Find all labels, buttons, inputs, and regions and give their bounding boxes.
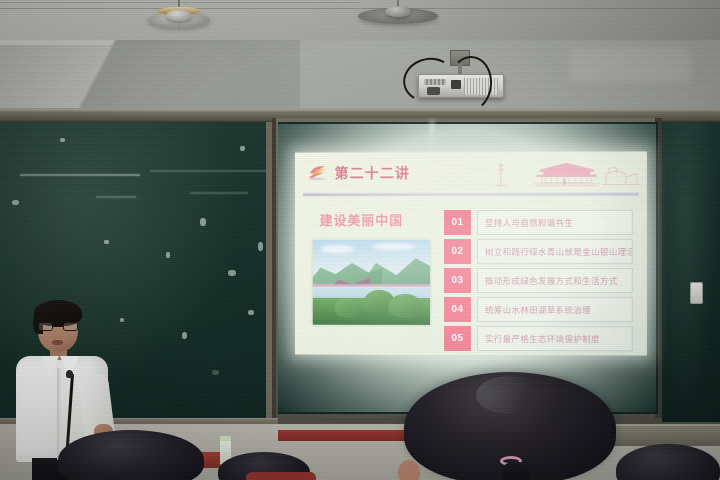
chalk-mark [150,170,268,172]
chalk-mark [182,332,187,339]
student-ponytail [502,462,530,480]
fan-motor [385,6,411,17]
student-shoulder [246,472,316,480]
party-emblem-icon [308,163,328,180]
slide-point-list: 01 坚持人与自然和谐共生 02 树立和践行绿水青山就是金山银山理念 03 推动… [444,210,633,356]
presenter-shirt-placket [57,368,61,460]
slide-section-heading: 建设美丽中国 [320,210,403,229]
chalk-mark [20,174,140,176]
chalk-mark [190,192,248,194]
list-item: 05 实行最严格生态环境保护制度 [444,326,633,352]
photo-shoreline [313,284,430,287]
slide-title: 第二十二讲 [335,163,411,183]
chalk-mark [12,200,19,205]
light-switch[interactable] [690,282,703,304]
landscape-photo [313,240,430,325]
item-number-badge: 02 [444,239,471,264]
ceiling-projector [404,50,514,108]
fan-motor [166,10,192,21]
chalk-mark [96,196,136,198]
chalk-mark [258,242,263,251]
list-item: 01 坚持人与自然和谐共生 [444,210,633,235]
item-number-badge: 01 [444,210,471,235]
glasses-bridge [53,326,63,327]
chalk-mark [212,370,219,375]
presentation-slide: 第二十二讲 [295,151,647,355]
hair-part-highlight [476,376,542,414]
item-number-badge: 04 [444,297,471,322]
list-item: 03 推动形成绿色发展方式和生活方式 [444,268,633,293]
slide-header: 第二十二讲 [295,151,647,194]
item-text: 实行最严格生态环境保护制度 [477,326,633,351]
list-item: 04 统筹山水林田湖草系统治理 [444,297,633,322]
photo-cloud [321,245,355,253]
glasses-icon [38,322,78,331]
chalk-mark [200,218,206,226]
chalk-mark [166,252,170,258]
chalk-mark [60,138,65,142]
student-ear [398,460,420,480]
item-text: 推动形成绿色发展方式和生活方式 [477,268,633,293]
ceiling-fan-icon [358,0,438,46]
photo-tree [335,298,361,318]
photo-tree [388,294,422,318]
slide-divider [303,193,639,197]
item-text: 坚持人与自然和谐共生 [477,210,633,235]
chalk-mark [104,240,109,244]
item-text: 树立和践行绿水青山就是金山银山理念 [477,239,633,264]
item-text: 统筹山水林田湖草系统治理 [477,297,633,322]
microphone-head-icon [66,370,73,378]
presenter-mouth [52,340,63,345]
item-number-badge: 03 [444,268,471,293]
chalk-mark [228,270,236,276]
glasses-lens-right [63,322,78,331]
glasses-lens-left [38,322,53,331]
classroom-scene: 第二十二讲 [0,0,720,480]
wall-patch [570,48,690,82]
chalk-mark [248,310,254,315]
bottle-cap [220,436,231,441]
list-item: 02 树立和践行绿水青山就是金山银山理念 [444,239,633,264]
ceiling-fan-light-icon [139,0,219,50]
chalkboard-right [662,122,720,422]
board-top-rail-highlight [0,108,720,111]
chalk-mark [120,318,124,322]
chalk-mark [240,146,245,151]
photo-cloud [372,243,416,250]
tiananmen-illustration-icon [492,157,641,189]
item-number-badge: 05 [444,326,471,351]
